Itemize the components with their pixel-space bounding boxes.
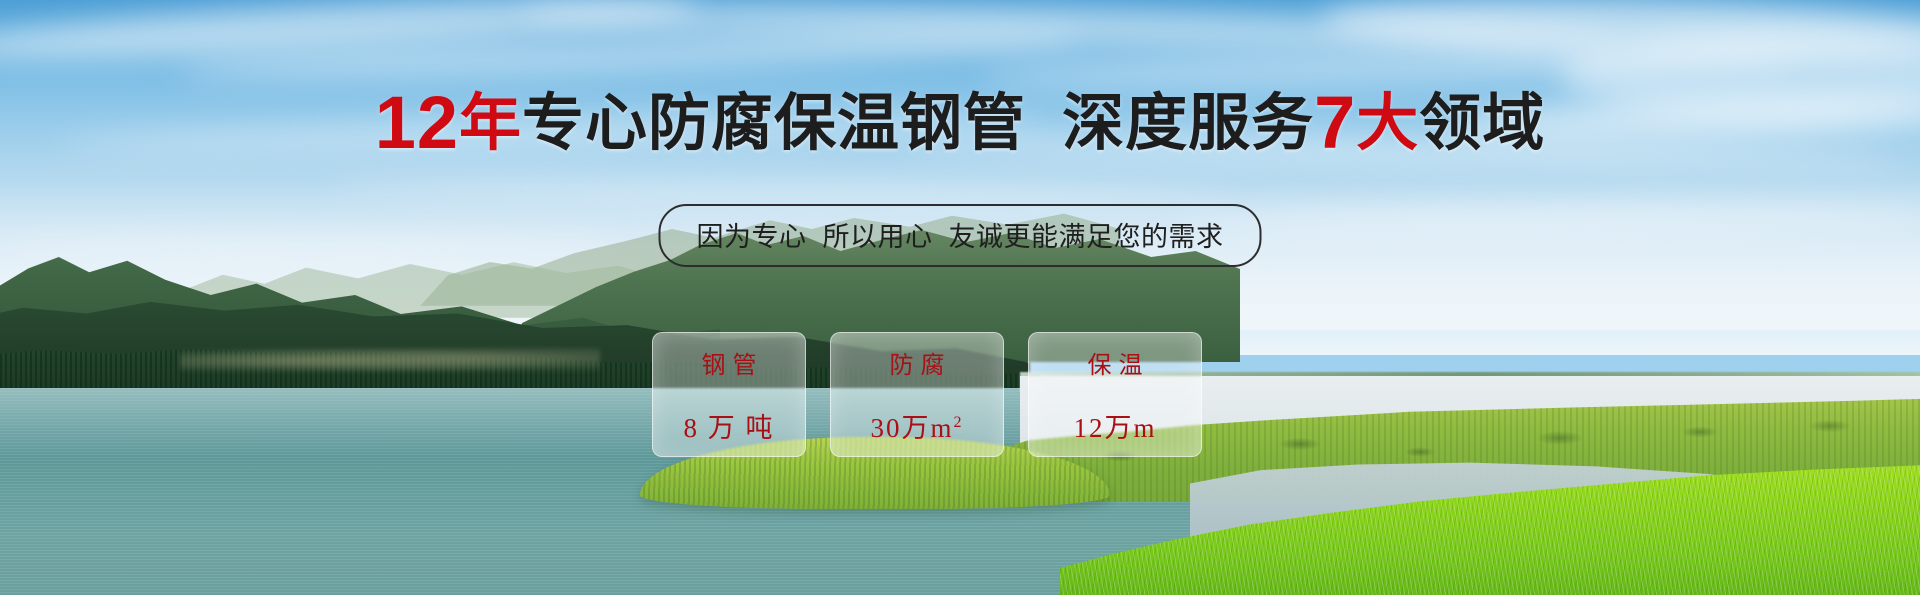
slogan-segment-2: 所以用心 bbox=[823, 222, 933, 252]
headline-part-b: 深度服务 bbox=[1062, 89, 1314, 158]
banner-headline: 12年专心防腐保温钢管深度服务7大领域 bbox=[0, 86, 1920, 160]
stat-card-value: 12万m bbox=[1073, 406, 1156, 445]
stat-card-value-text: 8 万 吨 bbox=[684, 413, 775, 443]
stat-card-group: 钢管 8 万 吨 防腐 30万m2 保温 12万m bbox=[652, 332, 1202, 457]
headline-fields-unit: 大 bbox=[1356, 89, 1419, 158]
headline-part-c: 领域 bbox=[1419, 89, 1545, 158]
stat-card-value: 30万m2 bbox=[870, 406, 963, 445]
headline-fields-number: 7 bbox=[1314, 81, 1356, 164]
stat-card-title: 钢管 bbox=[695, 345, 764, 380]
stat-card-title: 防腐 bbox=[883, 345, 952, 380]
stat-card-steel-pipe: 钢管 8 万 吨 bbox=[652, 332, 806, 457]
slogan-segment-1: 因为专心 bbox=[697, 222, 807, 252]
slogan-pill: 因为专心所以用心友诚更能满足您的需求 bbox=[659, 204, 1262, 267]
hero-banner: 12年专心防腐保温钢管深度服务7大领域 因为专心所以用心友诚更能满足您的需求 钢… bbox=[0, 0, 1920, 595]
rocky-patch bbox=[180, 348, 600, 374]
stat-card-value-text: 30万m bbox=[870, 413, 953, 443]
stat-card-value-text: 12万m bbox=[1073, 413, 1156, 443]
slogan-segment-3: 友诚更能满足您的需求 bbox=[949, 222, 1224, 252]
stat-card-insulation: 保温 12万m bbox=[1028, 332, 1202, 457]
stat-card-anticorrosion: 防腐 30万m2 bbox=[830, 332, 1004, 457]
headline-years-number: 12 bbox=[375, 81, 459, 164]
stat-card-value-superscript: 2 bbox=[954, 414, 964, 431]
headline-years-unit: 年 bbox=[459, 89, 522, 158]
headline-part-a: 专心防腐保温钢管 bbox=[522, 89, 1026, 158]
stat-card-title: 保温 bbox=[1081, 345, 1150, 380]
stat-card-value: 8 万 吨 bbox=[684, 406, 775, 445]
